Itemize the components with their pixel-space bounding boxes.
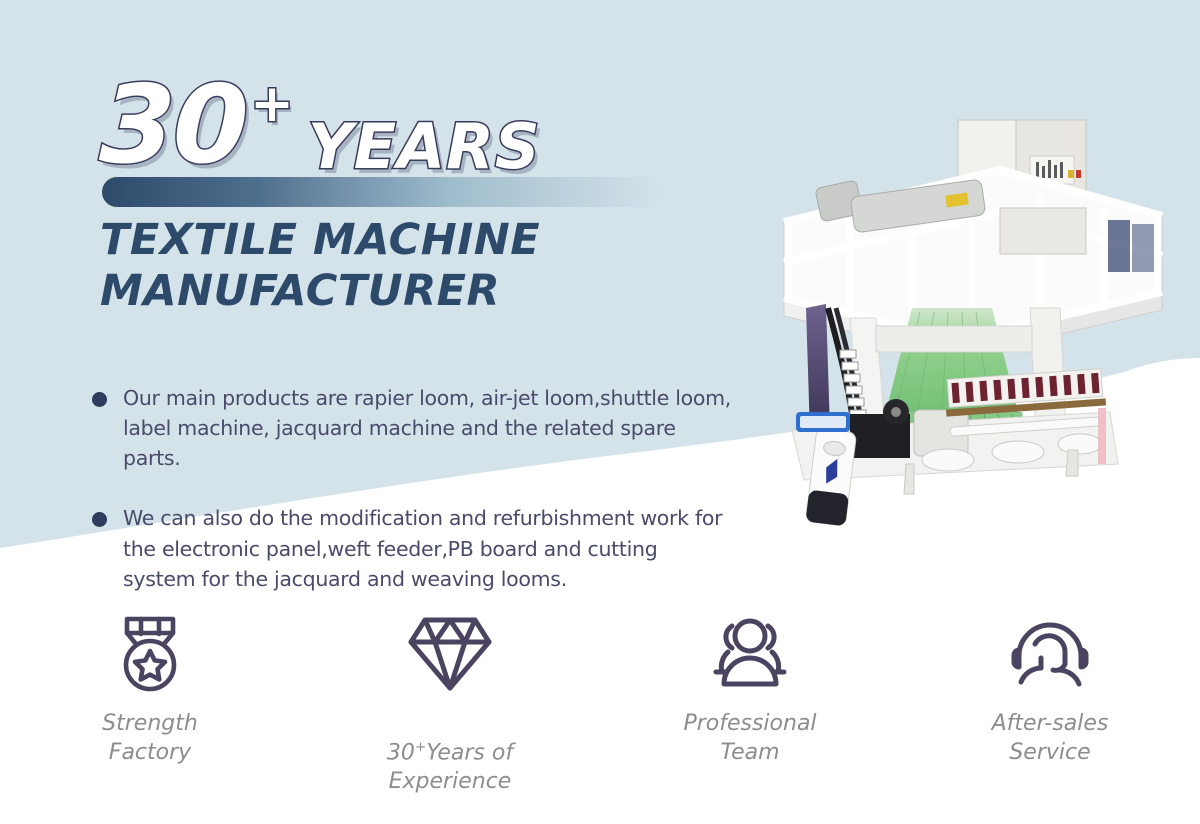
headline-30-plus-years: 30 + YEARS <box>100 72 720 180</box>
feature-strength-factory[interactable]: Strength Factory <box>0 612 300 796</box>
feature-years-experience[interactable]: 30+Years of Experience <box>300 612 600 796</box>
list-item: Our main products are rapier loom, air-j… <box>92 383 732 473</box>
feature-label: Strength Factory <box>102 710 198 767</box>
feature-after-sales-service[interactable]: After-sales Service <box>900 612 1200 796</box>
page-title-line-2: MANUFACTURER <box>100 266 720 317</box>
feature-professional-team[interactable]: Professional Team <box>600 612 900 796</box>
page-title: TEXTILE MACHINE MANUFACTURER <box>100 215 720 316</box>
feature-label-prefix: 30 <box>387 740 415 765</box>
feature-label-plus: + <box>415 739 426 755</box>
headline-plus-sign: + <box>250 78 294 130</box>
product-photo-loom <box>700 112 1180 532</box>
bullet-dot-icon <box>92 512 107 527</box>
feature-label: After-sales Service <box>992 710 1109 767</box>
people-group-icon <box>702 612 798 696</box>
feature-label: Professional Team <box>683 710 816 767</box>
feature-row: Strength Factory 30+Years of Experience <box>0 612 1200 796</box>
diamond-icon <box>407 612 493 696</box>
headline-block: 30 + YEARS <box>100 72 720 180</box>
bullet-text: We can also do the modification and refu… <box>123 503 732 593</box>
bullet-text: Our main products are rapier loom, air-j… <box>123 383 732 473</box>
medal-star-icon <box>111 612 189 696</box>
headline-years-word: YEARS <box>308 116 541 178</box>
bullet-list: Our main products are rapier loom, air-j… <box>92 383 732 624</box>
list-item: We can also do the modification and refu… <box>92 503 732 593</box>
page-title-line-1: TEXTILE MACHINE <box>100 215 540 265</box>
feature-label: 30+Years of Experience <box>387 710 513 796</box>
headset-support-icon <box>1007 612 1093 696</box>
headline-number: 30 <box>98 72 248 180</box>
bullet-dot-icon <box>92 392 107 407</box>
